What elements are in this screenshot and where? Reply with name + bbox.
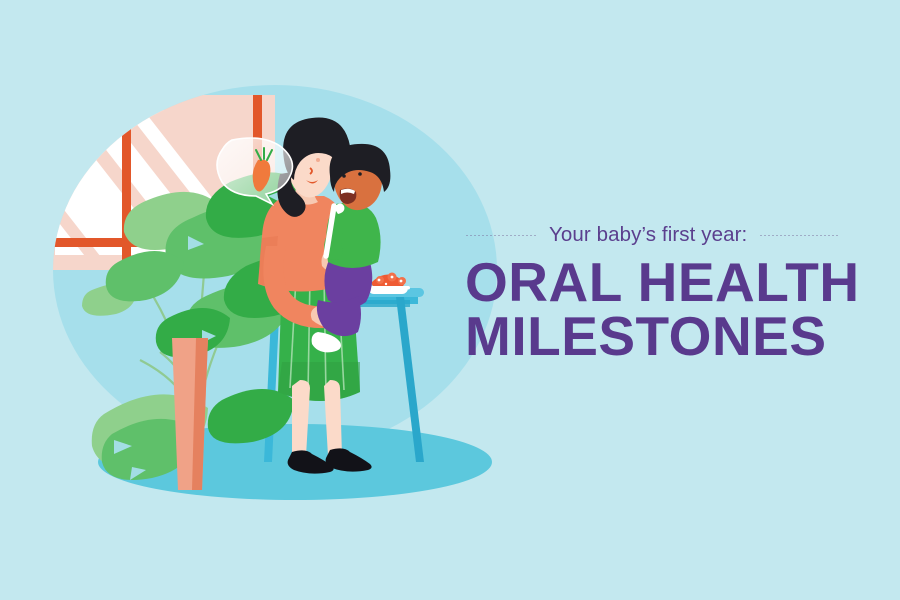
- baby-eye: [358, 172, 362, 176]
- poster-canvas: Your baby’s first year: ORAL HEALTH MILE…: [0, 0, 900, 600]
- baby-eye: [342, 174, 346, 178]
- headline-block: Your baby’s first year: ORAL HEALTH MILE…: [465, 222, 885, 363]
- subtitle-row: Your baby’s first year:: [465, 222, 885, 248]
- title-line-1: ORAL HEALTH: [465, 251, 860, 313]
- page-title: ORAL HEALTH MILESTONES: [465, 255, 885, 363]
- dotted-rule-left: [465, 235, 537, 236]
- plant-pot: [172, 338, 208, 490]
- dotted-rule-right: [759, 235, 839, 236]
- subtitle-text: Your baby’s first year:: [549, 223, 747, 247]
- title-line-2: MILESTONES: [465, 309, 885, 363]
